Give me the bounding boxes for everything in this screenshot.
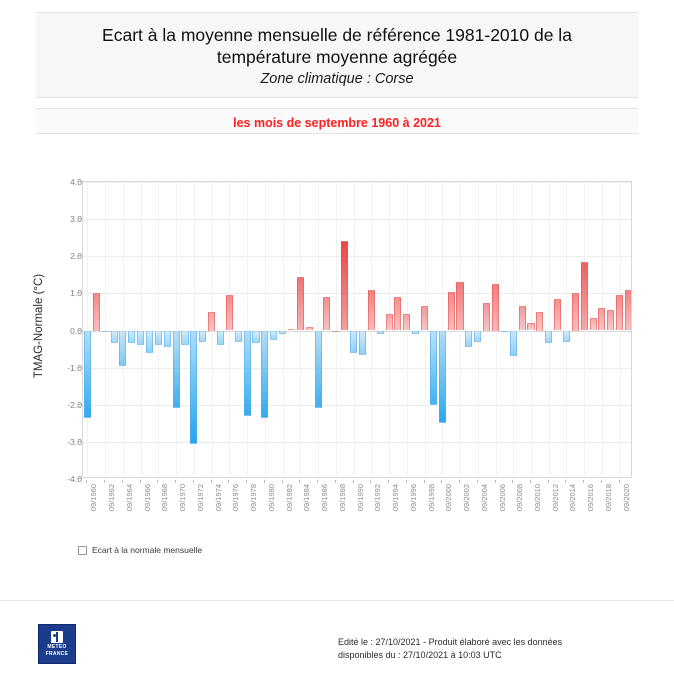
x-axis-tick-mark — [335, 480, 336, 483]
bar[interactable] — [554, 299, 561, 331]
gridline-x — [105, 182, 106, 477]
bar[interactable] — [501, 331, 508, 333]
gridline-x — [158, 182, 159, 477]
bar[interactable] — [288, 329, 295, 331]
x-axis-tick-label: 09/2012 — [551, 484, 560, 511]
bar[interactable] — [128, 331, 135, 344]
x-axis-tick-label: 09/2020 — [622, 484, 631, 511]
bar[interactable] — [510, 331, 517, 357]
bar[interactable] — [341, 241, 348, 330]
bar[interactable] — [368, 290, 375, 331]
bar[interactable] — [386, 314, 393, 331]
x-axis-tick-label: 09/2000 — [444, 484, 453, 511]
x-axis-tick-mark — [122, 480, 123, 483]
y-axis-tick-label: -4.0 — [56, 474, 82, 484]
x-axis-tick-label: 09/1970 — [178, 484, 187, 511]
x-axis-tick-label: 09/2018 — [604, 484, 613, 511]
bar[interactable] — [235, 331, 242, 342]
footer-text: Edité le : 27/10/2021 - Produit élaboré … — [338, 636, 562, 661]
y-axis-tick-label: 0.0 — [56, 326, 82, 336]
period-label: les mois de septembre 1960 à 2021 — [233, 116, 441, 130]
bar[interactable] — [261, 331, 268, 418]
x-axis-tick-mark — [175, 480, 176, 483]
footer-line-2: disponibles du : 27/10/2021 à 10:03 UTC — [338, 649, 562, 662]
x-axis-tick-label: 09/2002 — [462, 484, 471, 511]
x-axis-tick-label: 09/1980 — [267, 484, 276, 511]
x-axis-tick-mark — [299, 480, 300, 483]
bar[interactable] — [430, 331, 437, 405]
x-axis-tick-label: 09/2016 — [586, 484, 595, 511]
y-axis-tick-label: -3.0 — [56, 437, 82, 447]
legend-checkbox[interactable] — [78, 546, 87, 555]
x-axis-tick-label: 09/1998 — [427, 484, 436, 511]
page-title: Ecart à la moyenne mensuelle de référenc… — [36, 24, 638, 68]
y-axis-tick-label: -1.0 — [56, 363, 82, 373]
bar[interactable] — [217, 331, 224, 346]
bar[interactable] — [306, 327, 313, 331]
x-axis-tick-mark — [370, 480, 371, 483]
bar[interactable] — [102, 331, 109, 333]
x-axis-tick-mark — [619, 480, 620, 483]
x-axis-tick-label: 09/2006 — [498, 484, 507, 511]
bar[interactable] — [412, 331, 419, 335]
bar[interactable] — [111, 331, 118, 344]
bar[interactable] — [563, 331, 570, 342]
bar[interactable] — [181, 331, 188, 346]
meteo-france-logo: METEO FRANCE — [38, 624, 76, 664]
gridline-x — [336, 182, 337, 477]
bar[interactable] — [244, 331, 251, 416]
bar[interactable] — [137, 331, 144, 346]
x-axis-tick-label: 09/2014 — [568, 484, 577, 511]
gridline-x — [87, 182, 88, 477]
bar[interactable] — [270, 331, 277, 340]
bar[interactable] — [208, 312, 215, 331]
title-band: Ecart à la moyenne mensuelle de référenc… — [36, 12, 638, 98]
x-axis-tick-mark — [530, 480, 531, 483]
y-axis-tick-mark — [78, 478, 82, 479]
x-axis-tick-label: 09/1976 — [231, 484, 240, 511]
y-axis-tick-label: 2.0 — [56, 251, 82, 261]
bar[interactable] — [465, 331, 472, 348]
x-axis-tick-label: 09/1964 — [125, 484, 134, 511]
y-axis-title: TMAG-Normale (°C) — [33, 274, 45, 378]
bar[interactable] — [625, 290, 632, 331]
x-axis-tick-label: 09/1966 — [143, 484, 152, 511]
x-axis-tick-label: 09/1978 — [249, 484, 258, 511]
y-axis-tick-label: 1.0 — [56, 288, 82, 298]
x-axis-tick-mark — [406, 480, 407, 483]
x-axis-tick-label: 09/1960 — [89, 484, 98, 511]
bar[interactable] — [164, 331, 171, 348]
bar[interactable] — [394, 297, 401, 330]
bar[interactable] — [315, 331, 322, 409]
x-axis-tick-mark — [86, 480, 87, 483]
x-axis-tick-label: 09/2010 — [533, 484, 542, 511]
gridline-x — [283, 182, 284, 477]
x-axis-tick-mark — [264, 480, 265, 483]
bar[interactable] — [173, 331, 180, 409]
x-axis-tick-mark — [495, 480, 496, 483]
x-axis-tick-mark — [512, 480, 513, 483]
y-axis-tick-label: 3.0 — [56, 214, 82, 224]
bar[interactable] — [519, 306, 526, 330]
x-axis-tick-label: 09/1994 — [391, 484, 400, 511]
x-axis-tick-label: 09/1962 — [107, 484, 116, 511]
gridline-x — [442, 182, 443, 477]
y-axis-tick-label: -2.0 — [56, 400, 82, 410]
y-axis-tick-label: 4.0 — [56, 177, 82, 187]
bar[interactable] — [279, 331, 286, 335]
bar[interactable] — [226, 295, 233, 330]
x-axis-tick-label: 09/1968 — [160, 484, 169, 511]
x-axis-tick-mark — [211, 480, 212, 483]
x-axis-tick-mark — [193, 480, 194, 483]
gridline-x — [566, 182, 567, 477]
bar[interactable] — [323, 297, 330, 330]
y-axis-title-box: TMAG-Normale (°C) — [30, 246, 48, 406]
x-axis-tick-mark — [317, 480, 318, 483]
bar[interactable] — [545, 331, 552, 344]
x-axis-tick-label: 09/2004 — [480, 484, 489, 511]
bar[interactable] — [456, 282, 463, 330]
bar[interactable] — [590, 318, 597, 331]
plot-area — [82, 181, 632, 478]
gridline-x — [513, 182, 514, 477]
x-axis-tick-mark — [282, 480, 283, 483]
bar[interactable] — [84, 331, 91, 418]
bar[interactable] — [350, 331, 357, 353]
bar[interactable] — [146, 331, 153, 353]
logo-text-line2: FRANCE — [46, 651, 69, 657]
bar[interactable] — [616, 295, 623, 330]
x-axis-tick-label: 09/1988 — [338, 484, 347, 511]
bar[interactable] — [190, 331, 197, 444]
x-axis-tick-mark — [424, 480, 425, 483]
footer-divider — [0, 600, 674, 601]
gridline-x — [123, 182, 124, 477]
x-axis-tick-label: 09/1984 — [302, 484, 311, 511]
bar[interactable] — [155, 331, 162, 346]
bar[interactable] — [119, 331, 126, 366]
bar[interactable] — [332, 331, 339, 332]
bar[interactable] — [598, 308, 605, 330]
bar[interactable] — [492, 284, 499, 330]
x-axis-tick-mark — [548, 480, 549, 483]
gridline-x — [265, 182, 266, 477]
chart-container: TMAG-Normale (°C) 4.03.02.01.00.0-1.0-2.… — [0, 150, 674, 570]
chart-subtitle: Zone climatique : Corse — [36, 71, 638, 87]
bar[interactable] — [93, 293, 100, 330]
chart-legend[interactable]: Ecart à la normale mensuelle — [78, 545, 202, 555]
bar[interactable] — [377, 331, 384, 335]
x-axis-tick-label: 09/1986 — [320, 484, 329, 511]
gridline-x — [354, 182, 355, 477]
x-axis-tick-label: 09/1972 — [196, 484, 205, 511]
bar[interactable] — [359, 331, 366, 355]
bar[interactable] — [421, 306, 428, 330]
x-axis-tick-mark — [441, 480, 442, 483]
bar[interactable] — [448, 292, 455, 331]
bar[interactable] — [483, 303, 490, 331]
logo-glyph-icon — [51, 631, 63, 643]
bar[interactable] — [572, 293, 579, 330]
legend-item-label: Ecart à la normale mensuelle — [92, 545, 202, 555]
x-axis-tick-mark — [583, 480, 584, 483]
bar[interactable] — [527, 323, 534, 330]
x-axis-tick-mark — [104, 480, 105, 483]
gridline-x — [141, 182, 142, 477]
bar[interactable] — [297, 277, 304, 331]
x-axis-tick-label: 09/1990 — [356, 484, 365, 511]
x-axis-tick-label: 09/1992 — [373, 484, 382, 511]
x-axis-tick-mark — [246, 480, 247, 483]
bar[interactable] — [474, 331, 481, 342]
x-axis-tick-mark — [353, 480, 354, 483]
x-axis-tick-label: 09/1996 — [409, 484, 418, 511]
bar[interactable] — [439, 331, 446, 424]
bar[interactable] — [403, 314, 410, 331]
x-axis-tick-mark — [157, 480, 158, 483]
gridline-x — [549, 182, 550, 477]
logo-text-line1: METEO — [47, 644, 66, 650]
x-axis-tick-mark — [601, 480, 602, 483]
bar[interactable] — [536, 312, 543, 331]
gridline-x — [318, 182, 319, 477]
x-axis-tick-mark — [565, 480, 566, 483]
footer-line-1: Edité le : 27/10/2021 - Produit élaboré … — [338, 636, 562, 649]
x-axis-tick-mark — [228, 480, 229, 483]
bar[interactable] — [199, 331, 206, 342]
gridline-x — [247, 182, 248, 477]
gridline-x — [478, 182, 479, 477]
y-axis: 4.03.02.01.00.0-1.0-2.0-3.0-4.0 — [48, 181, 82, 478]
x-axis-tick-label: 09/2008 — [515, 484, 524, 511]
period-band: les mois de septembre 1960 à 2021 — [36, 108, 638, 134]
x-axis-tick-label: 09/1982 — [285, 484, 294, 511]
x-axis: 09/196009/196209/196409/196609/196809/19… — [82, 480, 632, 540]
bar[interactable] — [607, 310, 614, 330]
gridline-x — [176, 182, 177, 477]
x-axis-tick-mark — [140, 480, 141, 483]
bar[interactable] — [252, 331, 259, 344]
x-axis-tick-label: 09/1974 — [214, 484, 223, 511]
x-axis-tick-mark — [388, 480, 389, 483]
x-axis-tick-mark — [459, 480, 460, 483]
report-page: Ecart à la moyenne mensuelle de référenc… — [0, 0, 674, 675]
bar[interactable] — [581, 262, 588, 331]
x-axis-tick-mark — [477, 480, 478, 483]
